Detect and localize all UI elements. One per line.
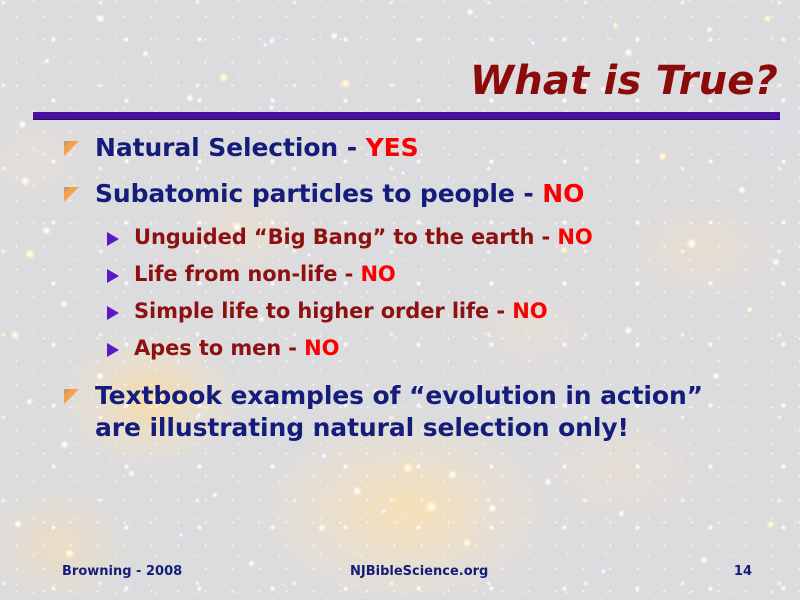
bullet-item-simple-to-higher-life: Simple life to higher order life - NO xyxy=(0,298,800,325)
answer-badge: NO xyxy=(557,225,592,249)
bullet-line-1: Textbook examples of “evolution in actio… xyxy=(95,381,703,410)
bullet-item-life-from-nonlife: Life from non-life - NO xyxy=(0,261,800,288)
presentation-slide: What is True? Natural Selection - YES Su… xyxy=(0,0,800,600)
footer-author: Browning - 2008 xyxy=(62,564,182,579)
level2-triangle-bullet-icon xyxy=(107,269,121,283)
answer-badge: YES xyxy=(366,133,419,162)
slide-body: Natural Selection - YES Subatomic partic… xyxy=(0,132,800,458)
level1-triangle-bullet-icon xyxy=(64,141,81,158)
answer-badge: NO xyxy=(512,299,547,323)
answer-badge: NO xyxy=(304,336,339,360)
footer-website: NJBibleScience.org xyxy=(350,564,488,579)
level2-triangle-bullet-icon xyxy=(107,232,121,246)
level2-triangle-bullet-icon xyxy=(107,343,121,357)
bullet-label: Life from non-life - xyxy=(134,262,360,286)
bullet-item-big-bang: Unguided “Big Bang” to the earth - NO xyxy=(0,224,800,251)
title-divider-rule xyxy=(33,112,780,120)
bullet-text: Unguided “Big Bang” to the earth - NO xyxy=(134,224,800,251)
bullet-line-2: are illustrating natural selection only! xyxy=(95,413,629,442)
bullet-label: Subatomic particles to people - xyxy=(95,179,542,208)
bullet-text: Subatomic particles to people - NO xyxy=(95,178,800,210)
bullet-label: Simple life to higher order life - xyxy=(134,299,512,323)
bullet-label: Unguided “Big Bang” to the earth - xyxy=(134,225,557,249)
slide-title: What is True? xyxy=(470,58,778,104)
bullet-text: Simple life to higher order life - NO xyxy=(134,298,800,325)
level2-triangle-bullet-icon xyxy=(107,306,121,320)
bullet-text: Textbook examples of “evolution in actio… xyxy=(95,380,800,444)
slide-footer: Browning - 2008 NJBibleScience.org 14 xyxy=(0,564,800,584)
level1-triangle-bullet-icon xyxy=(64,187,81,204)
answer-badge: NO xyxy=(360,262,395,286)
footer-page-number: 14 xyxy=(734,564,752,579)
level1-triangle-bullet-icon xyxy=(64,389,81,406)
bullet-item-textbook-examples: Textbook examples of “evolution in actio… xyxy=(0,380,800,444)
answer-badge: NO xyxy=(542,179,584,208)
bullet-item-natural-selection: Natural Selection - YES xyxy=(0,132,800,164)
bullet-label: Natural Selection - xyxy=(95,133,366,162)
bullet-text: Life from non-life - NO xyxy=(134,261,800,288)
bullet-text: Natural Selection - YES xyxy=(95,132,800,164)
bullet-text: Apes to men - NO xyxy=(134,335,800,362)
bullet-item-subatomic-particles: Subatomic particles to people - NO xyxy=(0,178,800,210)
bullet-label: Apes to men - xyxy=(134,336,304,360)
bullet-item-apes-to-men: Apes to men - NO xyxy=(0,335,800,362)
